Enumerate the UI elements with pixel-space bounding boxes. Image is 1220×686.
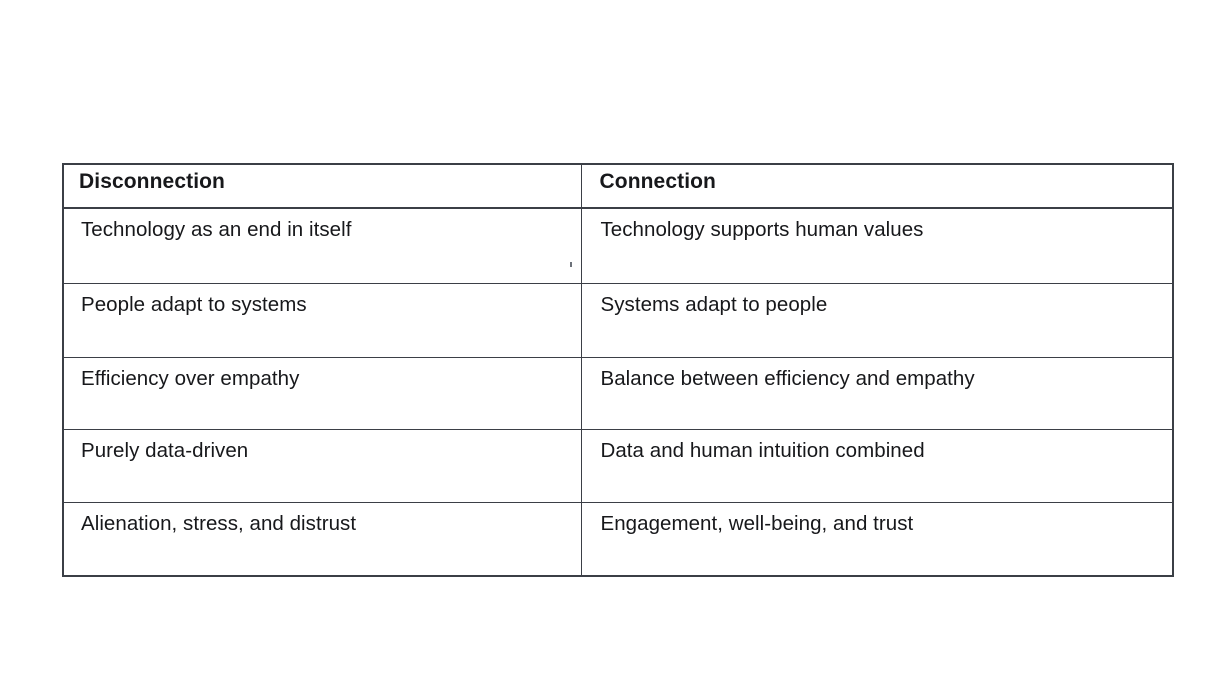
cell-connection: Data and human intuition combined	[581, 430, 1173, 503]
scan-artifact-tick	[570, 262, 572, 267]
cell-connection: Systems adapt to people	[581, 284, 1173, 358]
comparison-table-container: Disconnection Connection Technology as a…	[62, 163, 1172, 525]
cell-disconnection: People adapt to systems	[63, 284, 581, 358]
table-row: Purely data-driven Data and human intuit…	[63, 430, 1173, 503]
disconnection-connection-table: Disconnection Connection Technology as a…	[62, 163, 1174, 577]
table-row: Efficiency over empathy Balance between …	[63, 358, 1173, 430]
column-header-connection: Connection	[581, 164, 1173, 208]
table-body: Technology as an end in itself Technolog…	[63, 208, 1173, 576]
table-row: Alienation, stress, and distrust Engagem…	[63, 503, 1173, 577]
table-header-row: Disconnection Connection	[63, 164, 1173, 208]
cell-connection: Technology supports human values	[581, 208, 1173, 284]
table-header: Disconnection Connection	[63, 164, 1173, 208]
cell-disconnection: Efficiency over empathy	[63, 358, 581, 430]
cell-disconnection: Purely data-driven	[63, 430, 581, 503]
cell-connection: Engagement, well-being, and trust	[581, 503, 1173, 577]
cell-connection: Balance between efficiency and empathy	[581, 358, 1173, 430]
column-header-disconnection: Disconnection	[63, 164, 581, 208]
cell-disconnection: Alienation, stress, and distrust	[63, 503, 581, 577]
table-row: Technology as an end in itself Technolog…	[63, 208, 1173, 284]
table-row: People adapt to systems Systems adapt to…	[63, 284, 1173, 358]
cell-disconnection: Technology as an end in itself	[63, 208, 581, 284]
